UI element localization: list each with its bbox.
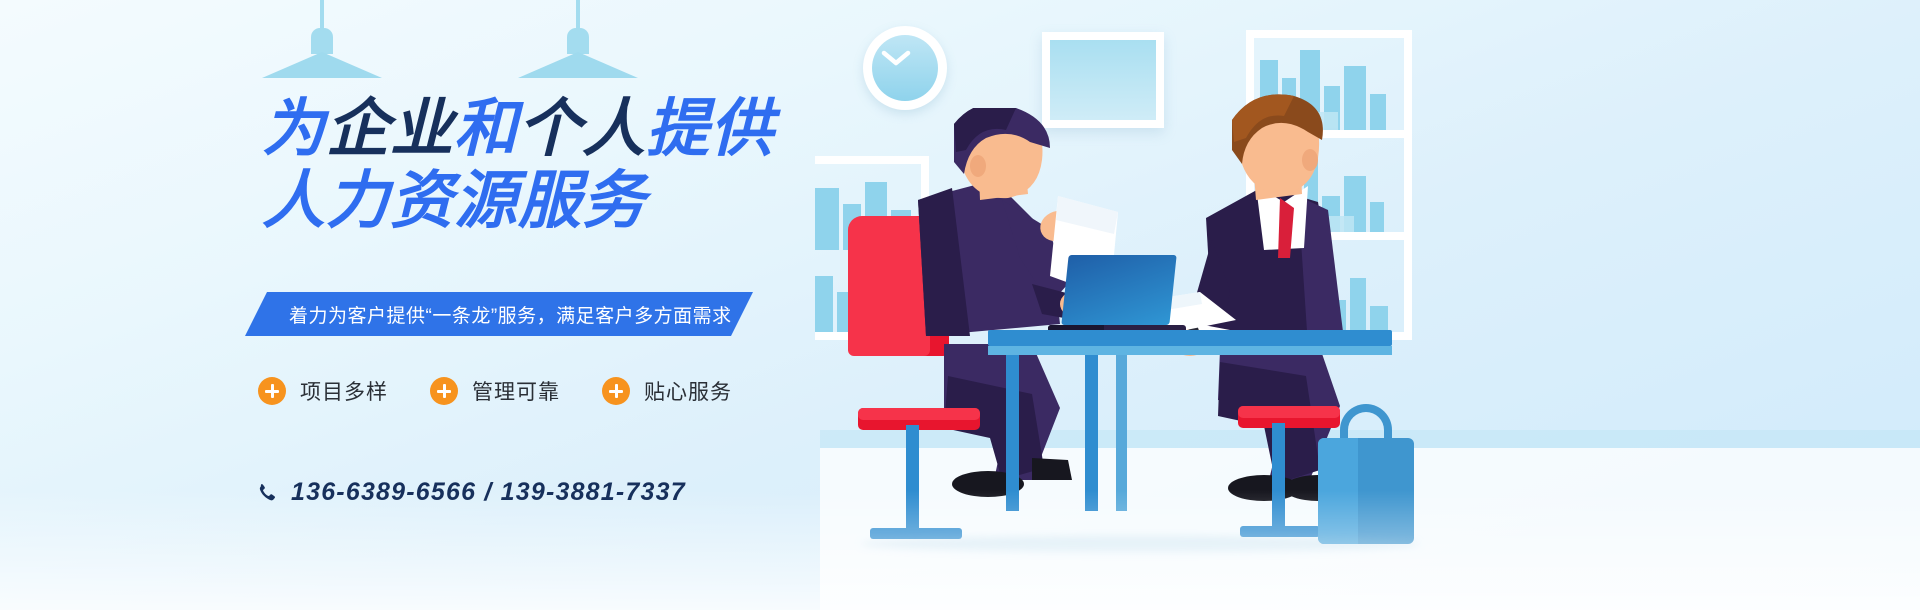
promo-banner: 为企业和个人提供 人力资源服务 着力为客户提供“一条龙”服务，满足客户多方面需求… [0, 0, 1920, 610]
desk-top-edge [988, 346, 1392, 355]
plus-icon [602, 377, 630, 405]
desk-leg [1006, 355, 1019, 511]
headline-seg-3: 和 [454, 96, 518, 162]
phone-icon [255, 482, 277, 504]
feature-label-1: 项目多样 [300, 376, 388, 406]
feature-label-3: 贴心服务 [644, 376, 732, 406]
headline-line-1: 为企业和个人提供 [262, 96, 882, 162]
phone-number: 136-6389-6566 / 139-3881-7337 [291, 478, 686, 507]
feature-label-2: 管理可靠 [472, 376, 560, 406]
desk-leg [1085, 355, 1098, 511]
headline-seg-4: 个人 [518, 96, 646, 162]
subtitle-text: 着力为客户提供“一条龙”服务，满足客户多方面需求 [289, 301, 732, 328]
phone-contact[interactable]: 136-6389-6566 / 139-3881-7337 [255, 478, 686, 507]
headline-line-2: 人力资源服务 [262, 168, 882, 234]
plus-icon [258, 377, 286, 405]
desk-top [988, 330, 1392, 346]
feature-item-1[interactable]: 项目多样 [258, 376, 388, 406]
subtitle-banner: 着力为客户提供“一条龙”服务，满足客户多方面需求 [245, 292, 753, 336]
banner-text-content: 为企业和个人提供 人力资源服务 着力为客户提供“一条龙”服务，满足客户多方面需求… [0, 0, 900, 610]
headline-seg-5: 提供 [646, 96, 774, 162]
headline: 为企业和个人提供 人力资源服务 [262, 96, 882, 234]
laptop-screen [1061, 255, 1176, 325]
headline-seg-2: 企业 [326, 96, 454, 162]
feature-item-2[interactable]: 管理可靠 [430, 376, 560, 406]
desk-leg [1116, 355, 1127, 511]
chair-right-seat [1238, 406, 1340, 418]
feature-item-3[interactable]: 贴心服务 [602, 376, 732, 406]
headline-seg-1: 为 [262, 96, 326, 162]
feature-list: 项目多样 管理可靠 贴心服务 [258, 376, 732, 406]
plus-icon [430, 377, 458, 405]
